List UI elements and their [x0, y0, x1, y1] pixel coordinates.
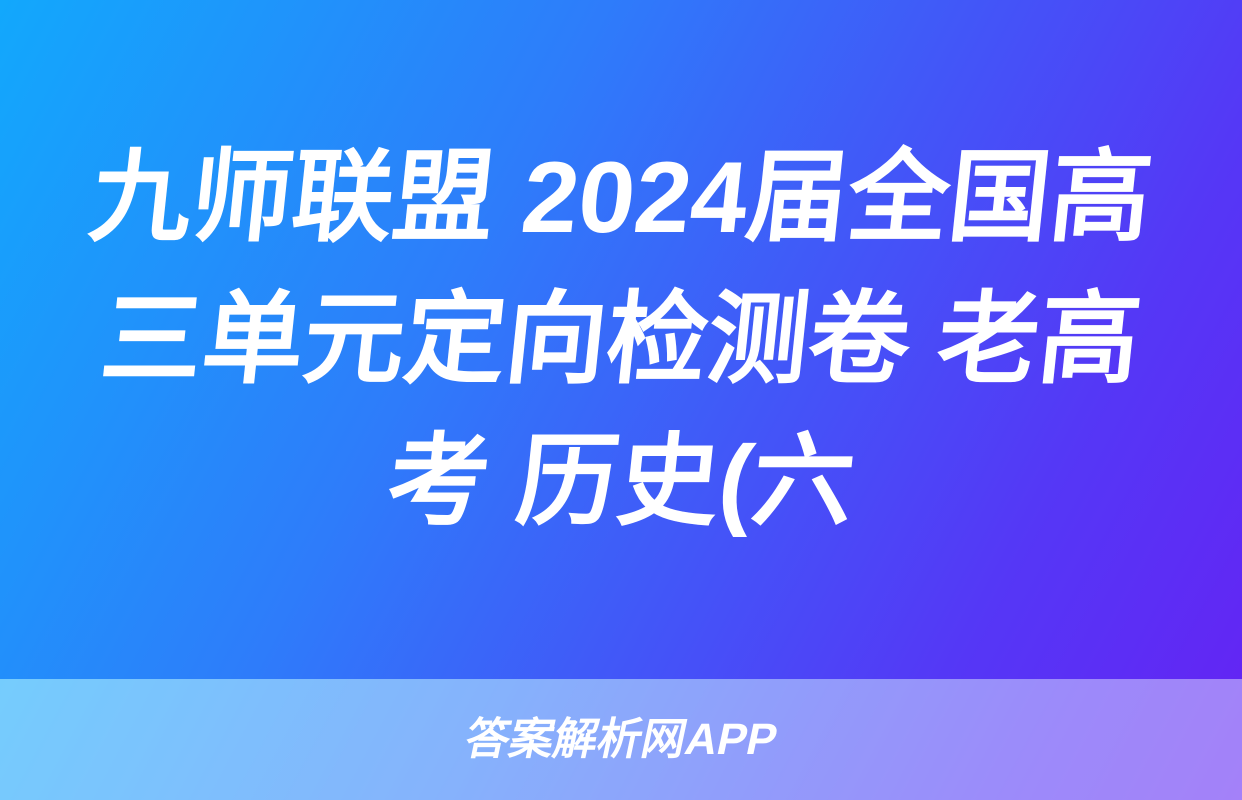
app-brand-label: 答案解析网APP — [460, 714, 782, 766]
page-title: 九师联盟 2024届全国高 三单元定向检测卷 老高 考 历史(六 — [0, 0, 1242, 679]
title-line-1: 九师联盟 2024届全国高 — [51, 127, 1192, 269]
share-card: 九师联盟 2024届全国高 三单元定向检测卷 老高 考 历史(六 答案解析网AP… — [0, 0, 1242, 800]
footer-bar: 答案解析网APP — [0, 679, 1242, 800]
title-line-2: 三单元定向检测卷 老高 — [51, 269, 1192, 411]
title-line-3: 考 历史(六 — [51, 411, 1192, 553]
